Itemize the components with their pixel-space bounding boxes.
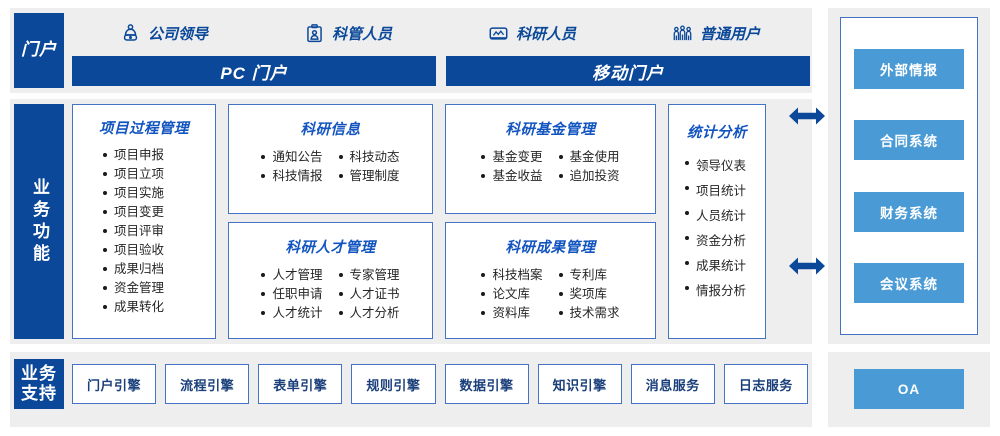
card-title: 科研基金管理 [446,118,655,139]
role-label: 普通用户 [700,23,760,44]
card-bullet-list-right: 科技动态 管理制度 [339,148,400,186]
list-item[interactable]: 追加投资 [559,167,620,186]
ext-chip-contract-system[interactable]: 合同系统 [854,120,964,160]
architecture-diagram: 门户 公司领导 [0,0,1000,436]
list-item[interactable]: 资料库 [481,304,542,323]
card-columns: 科技档案 论文库 资料库 专利库 奖项库 技术需求 [446,266,655,323]
mobile-portal-bar[interactable]: 移动门户 [446,56,810,86]
card-bullet-list-right: 专家管理 人才证书 人才分析 [339,266,400,323]
list-item[interactable]: 成果归档 [103,260,215,279]
list-item[interactable]: 人才管理 [261,266,322,285]
role-item-researcher[interactable]: 科研人员 [440,23,624,44]
oa-chip[interactable]: OA [854,369,964,409]
list-item[interactable]: 人才统计 [261,304,322,323]
role-item-normal-user[interactable]: 普通用户 [624,23,808,44]
card-title: 统计分析 [669,121,765,142]
list-item[interactable]: 基金使用 [559,148,620,167]
role-row: 公司领导 科管人员 [72,13,808,53]
oa-section: OA [828,352,990,427]
list-item[interactable]: 项目统计 [685,179,765,204]
list-item[interactable]: 管理制度 [339,167,400,186]
engine-chip-data[interactable]: 数据引擎 [445,364,529,404]
card-bullet-list: 项目申报 项目立项 项目实施 项目变更 项目评审 项目验收 成果归档 资金管理 … [103,146,215,317]
business-support-tab: 业务支持 [14,359,64,409]
card-bullet-list: 领导仪表 项目统计 人员统计 资金分析 成果统计 情报分析 [685,154,765,304]
business-support-section: 业务支持 门户引擎 流程引擎 表单引擎 规则引擎 数据引擎 知识引擎 消息服务 … [10,352,812,427]
engine-row: 门户引擎 流程引擎 表单引擎 规则引擎 数据引擎 知识引擎 消息服务 日志服务 [72,364,808,404]
double-arrow-icon-bottom [788,254,826,278]
card-columns: 人才管理 任职申请 人才统计 专家管理 人才证书 人才分析 [229,266,432,323]
card-title: 项目过程管理 [73,117,215,138]
list-item[interactable]: 人才分析 [339,304,400,323]
card-title: 科研人才管理 [229,236,432,257]
external-systems-section: 外部情报 合同系统 财务系统 会议系统 [828,8,990,344]
double-arrow-icon-top [788,104,826,128]
ext-chip-finance-system[interactable]: 财务系统 [854,192,964,232]
engine-chip-log-service[interactable]: 日志服务 [724,364,808,404]
clipboard-person-icon [304,23,325,44]
external-systems-panel: 外部情报 合同系统 财务系统 会议系统 [840,17,978,335]
portal-bars: PC 门户 移动门户 [72,56,810,86]
portal-tab-label: 门户 [21,40,57,60]
card-research-achievement-management[interactable]: 科研成果管理 科技档案 论文库 资料库 专利库 奖项库 技术需求 [445,222,656,339]
list-item[interactable]: 情报分析 [685,279,765,304]
card-columns: 基金变更 基金收益 基金使用 追加投资 [446,148,655,186]
list-item[interactable]: 通知公告 [261,148,322,167]
role-label: 科研人员 [516,23,576,44]
role-label: 科管人员 [332,23,392,44]
list-item[interactable]: 项目申报 [103,146,215,165]
list-item[interactable]: 专家管理 [339,266,400,285]
business-function-section: 业务功能 项目过程管理 项目申报 项目立项 项目实施 项目变更 项目评审 项目验… [10,99,812,344]
list-item[interactable]: 科技档案 [481,266,542,285]
portal-section: 门户 公司领导 [10,8,812,93]
list-item[interactable]: 论文库 [481,285,542,304]
engine-chip-rule[interactable]: 规则引擎 [351,364,435,404]
list-item[interactable]: 专利库 [559,266,620,285]
list-item[interactable]: 奖项库 [559,285,620,304]
ext-chip-meeting-system[interactable]: 会议系统 [854,263,964,303]
list-item[interactable]: 成果转化 [103,298,215,317]
card-statistical-analysis[interactable]: 统计分析 领导仪表 项目统计 人员统计 资金分析 成果统计 情报分析 [668,104,766,339]
list-item[interactable]: 成果统计 [685,254,765,279]
list-item[interactable]: 资金分析 [685,229,765,254]
card-research-information[interactable]: 科研信息 通知公告 科技情报 科技动态 管理制度 [228,104,433,214]
list-item[interactable]: 项目验收 [103,241,215,260]
pc-portal-bar[interactable]: PC 门户 [72,56,436,86]
list-item[interactable]: 任职申请 [261,285,322,304]
list-item[interactable]: 科技动态 [339,148,400,167]
list-item[interactable]: 资金管理 [103,279,215,298]
portal-section-tab: 门户 [14,13,64,88]
leader-icon [120,23,141,44]
card-columns: 通知公告 科技情报 科技动态 管理制度 [229,148,432,186]
engine-chip-message-service[interactable]: 消息服务 [631,364,715,404]
chart-monitor-icon [488,23,509,44]
ext-chip-external-intelligence[interactable]: 外部情报 [854,49,964,89]
business-support-tab-label: 业务支持 [20,364,58,404]
group-users-icon [672,23,693,44]
card-bullet-list-left: 人才管理 任职申请 人才统计 [261,266,322,323]
list-item[interactable]: 领导仪表 [685,154,765,179]
engine-chip-knowledge[interactable]: 知识引擎 [538,364,622,404]
list-item[interactable]: 基金变更 [481,148,542,167]
card-bullet-list-left: 科技档案 论文库 资料库 [481,266,542,323]
business-function-tab-label: 业务功能 [29,178,49,266]
role-item-research-admin[interactable]: 科管人员 [256,23,440,44]
list-item[interactable]: 项目实施 [103,184,215,203]
list-item[interactable]: 技术需求 [559,304,620,323]
engine-chip-form[interactable]: 表单引擎 [258,364,342,404]
engine-chip-portal[interactable]: 门户引擎 [72,364,156,404]
role-item-company-leader[interactable]: 公司领导 [72,23,256,44]
card-bullet-list-right: 专利库 奖项库 技术需求 [559,266,620,323]
card-research-talent-management[interactable]: 科研人才管理 人才管理 任职申请 人才统计 专家管理 人才证书 人才分析 [228,222,433,339]
card-title: 科研成果管理 [446,236,655,257]
card-project-process-management[interactable]: 项目过程管理 项目申报 项目立项 项目实施 项目变更 项目评审 项目验收 成果归… [72,104,216,339]
list-item[interactable]: 项目评审 [103,222,215,241]
list-item[interactable]: 基金收益 [481,167,542,186]
card-bullet-list-right: 基金使用 追加投资 [559,148,620,186]
list-item[interactable]: 科技情报 [261,167,322,186]
role-label: 公司领导 [148,23,208,44]
list-item[interactable]: 项目变更 [103,203,215,222]
card-bullet-list-left: 通知公告 科技情报 [261,148,322,186]
card-title: 科研信息 [229,118,432,139]
card-research-fund-management[interactable]: 科研基金管理 基金变更 基金收益 基金使用 追加投资 [445,104,656,214]
card-bullet-list-left: 基金变更 基金收益 [481,148,542,186]
list-item[interactable]: 人员统计 [685,204,765,229]
engine-chip-workflow[interactable]: 流程引擎 [165,364,249,404]
list-item[interactable]: 项目立项 [103,165,215,184]
business-function-tab: 业务功能 [14,104,64,339]
list-item[interactable]: 人才证书 [339,285,400,304]
